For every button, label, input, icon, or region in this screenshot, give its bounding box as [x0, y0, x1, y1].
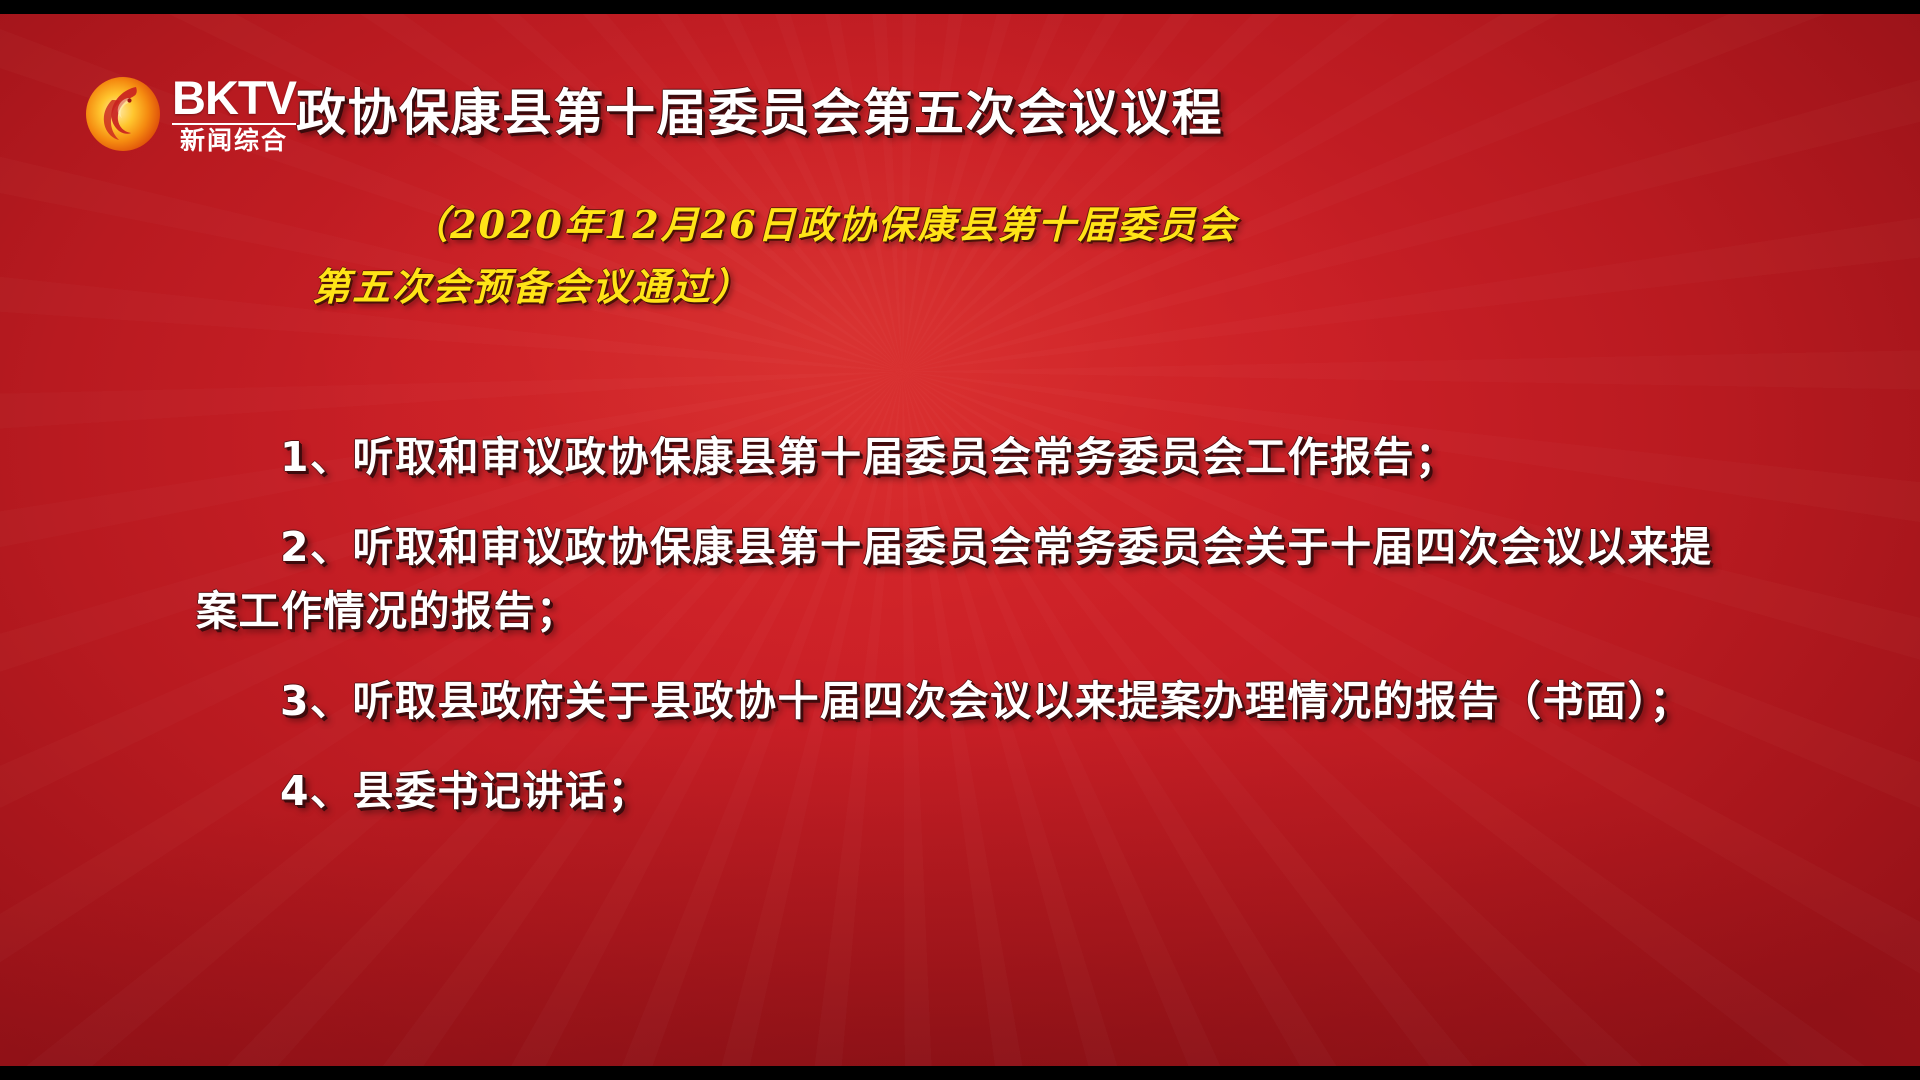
channel-abbrev-label: BKTV [172, 75, 296, 120]
subtitle-line-1: （2020年12月26日政协保康县第十届委员会 [150, 194, 1790, 256]
logo-divider [172, 123, 296, 125]
broadcast-screen: BKTV 新闻综合 政协保康县第十届委员会第五次会议议程 （2020年12月26… [0, 0, 1920, 1080]
channel-logo-text: BKTV 新闻综合 [172, 75, 296, 153]
red-backdrop: BKTV 新闻综合 政协保康县第十届委员会第五次会议议程 （2020年12月26… [0, 14, 1920, 1066]
subtitle-line-2: 第五次会预备会议通过） [150, 256, 1790, 318]
agenda-item-2: 2、听取和审议政协保康县第十届委员会常务委员会关于十届四次会议以来提案工作情况的… [196, 516, 1748, 644]
phoenix-bird-mark-icon [84, 75, 162, 153]
subtitle-block: （2020年12月26日政协保康县第十届委员会 第五次会预备会议通过） [150, 194, 1790, 317]
letterbox-bar-top [0, 0, 1920, 14]
letterbox-bar-bottom [0, 1066, 1920, 1080]
page-title: 政协保康县第十届委员会第五次会议议程 [296, 86, 1223, 140]
agenda-item-3: 3、听取县政府关于县政协十届四次会议以来提案办理情况的报告（书面）； [196, 670, 1748, 734]
channel-name-label: 新闻综合 [180, 128, 288, 153]
agenda-list: 1、听取和审议政协保康县第十届委员会常务委员会工作报告； 2、听取和审议政协保康… [196, 426, 1748, 824]
agenda-item-1: 1、听取和审议政协保康县第十届委员会常务委员会工作报告； [196, 426, 1748, 490]
agenda-item-4: 4、县委书记讲话； [196, 760, 1748, 824]
